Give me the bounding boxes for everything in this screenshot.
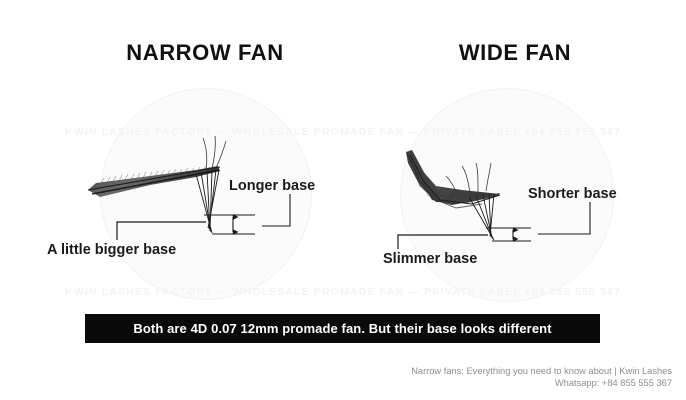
watermark-bottom: KWIN LASHES FACTORY — WHOLESALE PROMADE … xyxy=(0,286,686,298)
caption-banner: Both are 4D 0.07 12mm promade fan. But t… xyxy=(85,314,600,343)
footer: Narrow fans: Everything you need to know… xyxy=(411,366,672,389)
measure-wide-base-length xyxy=(486,202,590,241)
footer-line-title: Narrow fans: Everything you need to know… xyxy=(411,366,672,378)
callout-shorter-base: Shorter base xyxy=(528,186,617,202)
background-circle-left xyxy=(100,88,312,300)
caption-text: Both are 4D 0.07 12mm promade fan. But t… xyxy=(133,321,551,336)
leader-wide-base-width xyxy=(398,235,488,249)
leader-narrow-base-width xyxy=(117,222,206,240)
callout-a-little-bigger-base: A little bigger base xyxy=(47,242,176,258)
callout-longer-base: Longer base xyxy=(229,178,315,194)
lash-fan-wide xyxy=(406,150,500,240)
callout-slimmer-base: Slimmer base xyxy=(383,251,477,267)
footer-line-whatsapp: Whatsapp: +84 855 555 367 xyxy=(411,378,672,390)
watermark-top: KWIN LASHES FACTORY — WHOLESALE PROMADE … xyxy=(0,126,686,138)
panel-title-wide-fan: WIDE FAN xyxy=(345,40,685,66)
measure-narrow-base-length xyxy=(204,194,290,234)
lash-fan-narrow xyxy=(88,136,226,233)
